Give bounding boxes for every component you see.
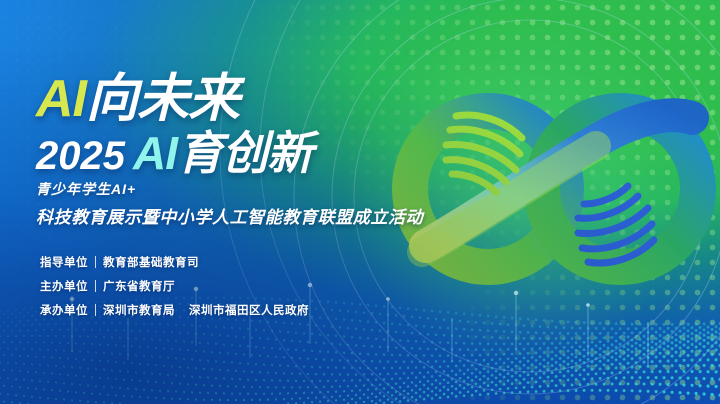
headline-line-2-rest: 育创新: [177, 127, 312, 179]
credit-label: 指导单位: [40, 254, 88, 270]
headline-line-1-rest: 向未来: [86, 70, 239, 128]
credit-value: 教育部基础教育司: [103, 254, 199, 270]
credit-row-host: 主办单位 广东省教育厅: [40, 278, 309, 294]
credit-divider: [95, 256, 96, 268]
credits-block: 指导单位 教育部基础教育司 主办单位 广东省教育厅 承办单位 深圳市教育局 深圳…: [40, 254, 309, 326]
credit-label: 主办单位: [40, 278, 88, 294]
event-poster: AI向未来 2025 AI育创新 青少年学生AI+ 科技教育展示暨中小学人工智能…: [0, 0, 720, 404]
subtitle-main: 科技教育展示暨中小学人工智能教育联盟成立活动: [36, 203, 466, 228]
headline-block: AI向未来 2025 AI育创新 青少年学生AI+ 科技教育展示暨中小学人工智能…: [36, 72, 466, 228]
credit-value-secondary: 深圳市福田区人民政府: [189, 302, 309, 318]
credit-divider: [95, 280, 96, 292]
headline-line-1-ai: AI: [36, 70, 86, 128]
subtitle-small: 青少年学生AI+: [36, 179, 466, 199]
credit-value: 广东省教育厅: [103, 278, 175, 294]
headline-line-2: AI育创新: [133, 130, 312, 176]
credit-value: 深圳市教育局: [103, 302, 175, 318]
headline-line-2-ai: AI: [133, 127, 177, 179]
headline-row-2: 2025 AI育创新: [36, 130, 466, 176]
credit-label: 承办单位: [40, 302, 88, 318]
headline-line-1: AI向未来: [36, 72, 466, 126]
credit-row-organizer: 承办单位 深圳市教育局 深圳市福田区人民政府: [40, 302, 309, 318]
event-year: 2025: [36, 136, 125, 176]
credit-row-guidance: 指导单位 教育部基础教育司: [40, 254, 309, 270]
credit-divider: [95, 304, 96, 316]
